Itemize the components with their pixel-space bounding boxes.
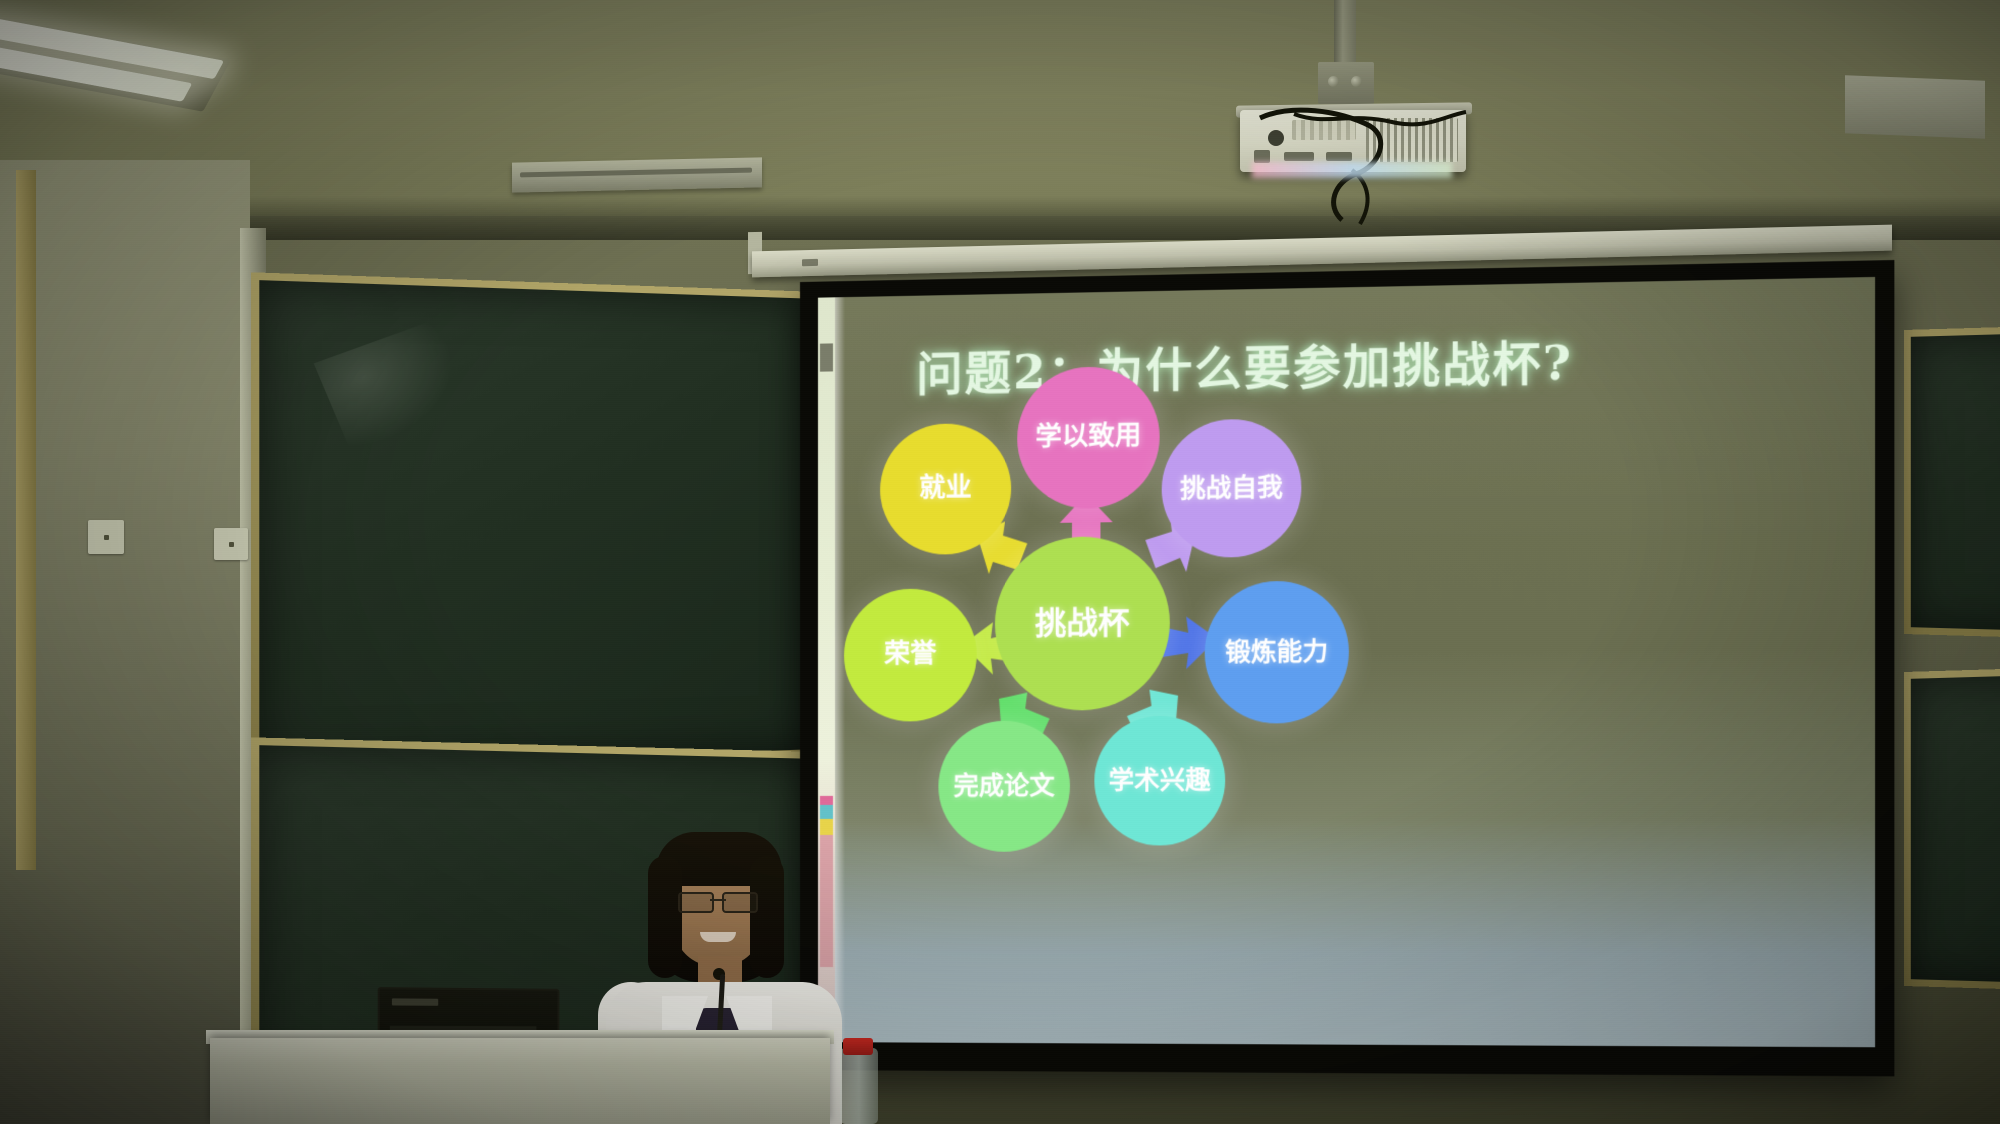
blackboard-right-lower <box>1904 665 2000 992</box>
bubble-honor[interactable]: 荣誉 <box>844 588 977 722</box>
bubble-label: 学以致用 <box>1025 422 1151 453</box>
left-wall <box>0 160 250 1124</box>
bubble-academic-interest[interactable]: 学术兴趣 <box>1094 716 1225 846</box>
vent-slit <box>520 168 752 178</box>
projector-mount-pole <box>1334 0 1356 70</box>
projection-screen-surface: 问题2：为什么要参加挑战杯? <box>818 277 1875 1047</box>
presenter-smile <box>700 932 736 942</box>
lectern <box>210 1038 830 1124</box>
projector-light-spill <box>1252 162 1452 178</box>
bubble-center-challenge-cup[interactable]: 挑战杯 <box>995 536 1170 711</box>
bubble-label: 完成论文 <box>943 772 1064 801</box>
bubble-label: 挑战自我 <box>1170 473 1293 503</box>
monitor-brand-logo <box>392 998 438 1005</box>
bubble-label: 锻炼能力 <box>1215 638 1339 667</box>
projector-bracket <box>1318 62 1374 104</box>
wall-mounted-box <box>1845 75 1985 138</box>
bracket-bolt-right <box>1351 76 1362 87</box>
chalk-smudge <box>314 319 475 454</box>
bubble-train-ability[interactable]: 锻炼能力 <box>1205 580 1349 723</box>
bubble-label: 学术兴趣 <box>1098 766 1221 795</box>
projection-screen-frame: 问题2：为什么要参加挑战杯? <box>800 260 1894 1076</box>
bracket-bolt-left <box>1328 76 1339 87</box>
bubble-finish-thesis[interactable]: 完成论文 <box>938 720 1070 851</box>
door-frame-outer <box>16 170 36 870</box>
blackboard-right-upper <box>1904 324 2000 641</box>
classroom-photo: 问题2：为什么要参加挑战杯? <box>0 0 2000 1124</box>
wall-socket-upper[interactable] <box>88 520 124 554</box>
presenter-hair-left <box>648 856 682 978</box>
presenter-glasses <box>678 892 758 909</box>
glasses-lens-left <box>678 892 714 913</box>
roller-label <box>802 259 818 266</box>
water-bottle-cap[interactable] <box>843 1038 873 1055</box>
radial-bubble-diagram: 学以致用 挑战自我 就业 锻炼能力 荣誉 完成论文 <box>818 277 1875 1047</box>
bubble-label: 挑战杯 <box>1025 605 1140 641</box>
blackboard-left-upper <box>251 272 820 775</box>
water-bottle[interactable] <box>840 1048 878 1124</box>
bubble-label: 就业 <box>909 474 982 504</box>
ceiling-vent <box>512 157 762 192</box>
bubble-apply-knowledge[interactable]: 学以致用 <box>1017 366 1159 509</box>
wall-socket-lower[interactable] <box>214 528 248 560</box>
bubble-challenge-self[interactable]: 挑战自我 <box>1162 418 1302 558</box>
glasses-lens-right <box>722 892 758 913</box>
presenter-hair-right <box>750 856 784 978</box>
bubble-label: 荣誉 <box>874 640 946 670</box>
